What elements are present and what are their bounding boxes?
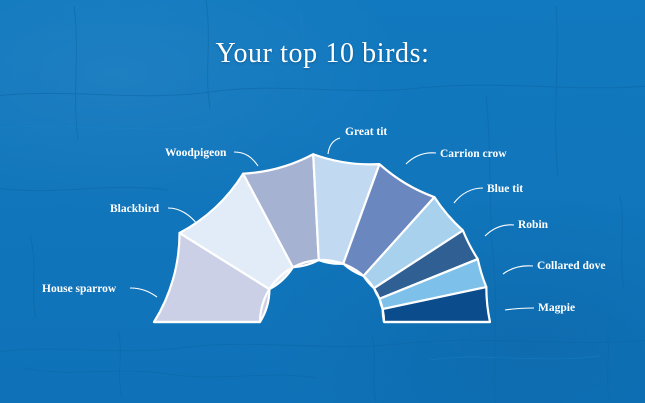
leader-line xyxy=(505,308,534,310)
leader-line xyxy=(168,208,197,224)
half-donut-chart: House sparrowBlackbirdWoodpigeonGreat ti… xyxy=(0,0,645,403)
slice-label: Carrion crow xyxy=(440,148,507,160)
slice-label: Blue tit xyxy=(487,183,523,195)
chart-canvas: Your top 10 birds: House sparrowBlackbir… xyxy=(0,0,645,403)
leader-line xyxy=(234,152,258,166)
slice-label: Robin xyxy=(518,219,549,231)
slice-label: Blackbird xyxy=(110,203,160,215)
leader-line xyxy=(503,266,533,274)
leader-line xyxy=(485,225,514,236)
leader-line xyxy=(130,288,157,297)
leader-line xyxy=(328,138,340,154)
slice-label: Magpie xyxy=(538,302,575,314)
leader-line xyxy=(454,188,483,203)
slice-label: House sparrow xyxy=(42,283,117,295)
slice-label: Woodpigeon xyxy=(165,147,227,159)
slice-label: Great tit xyxy=(345,126,387,138)
slice-label: Collared dove xyxy=(537,260,605,272)
slices-group xyxy=(154,154,490,322)
leader-line xyxy=(406,153,436,164)
